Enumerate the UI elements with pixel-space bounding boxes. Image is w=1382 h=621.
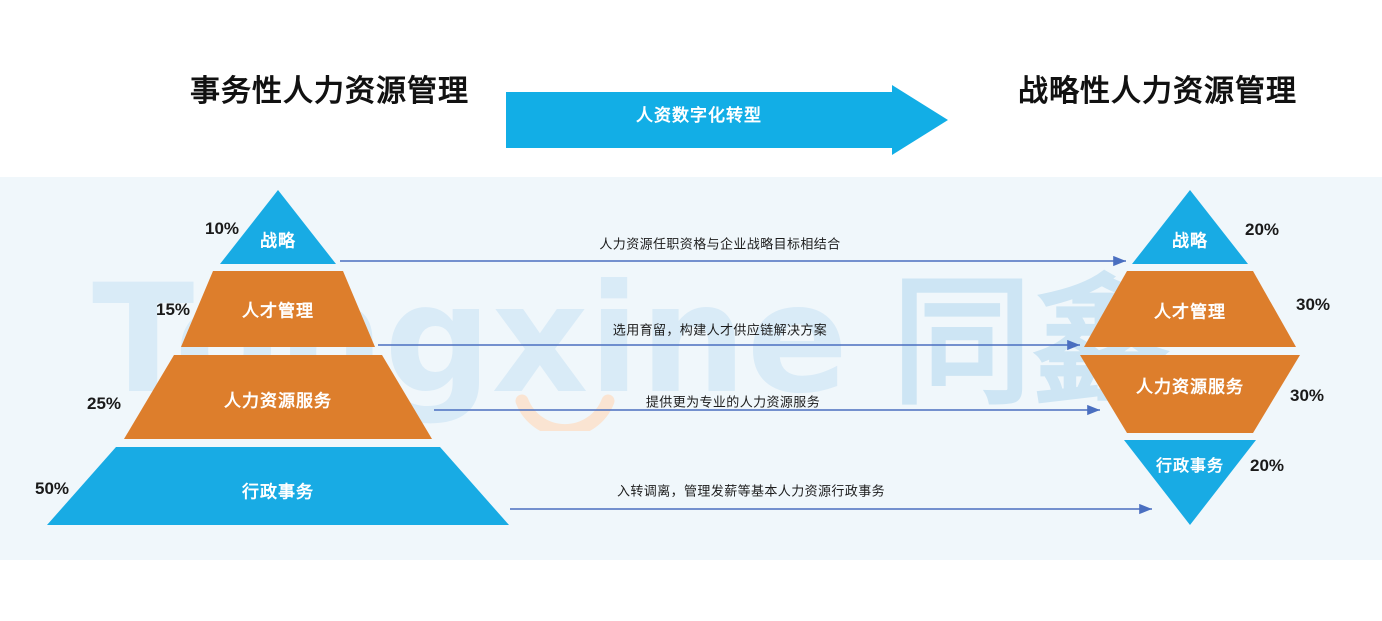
right-percent-hrservice: 30% (1290, 386, 1324, 406)
slide-canvas: 事务性人力资源管理 人资数字化转型 战略性人力资源管理 Tongxine 同鑫 (0, 0, 1382, 621)
connector-label-2: 选用育留，构建人才供应链解决方案 (613, 320, 827, 339)
left-percent-strategy: 10% (205, 219, 239, 239)
right-title: 战略性人力资源管理 (1018, 66, 1297, 110)
diagram-panel: Tongxine 同鑫 (0, 177, 1382, 560)
transformation-arrow: 人资数字化转型 (506, 85, 948, 155)
header-row: 事务性人力资源管理 人资数字化转型 战略性人力资源管理 (0, 0, 1382, 177)
right-percent-talent: 30% (1296, 295, 1330, 315)
right-layer-admin-shape[interactable] (1124, 440, 1256, 525)
left-layer-hrservice-shape[interactable] (124, 355, 432, 439)
left-percent-talent: 15% (156, 300, 190, 320)
right-layer-talent-shape[interactable] (1084, 271, 1296, 347)
arrow-shape (506, 85, 948, 155)
shapes-layer: 战略 人才管理 人力资源服务 行政事务 10% 15% 25% 50% 战略 人… (0, 177, 1382, 560)
left-percent-admin: 50% (35, 479, 69, 499)
connector-label-3: 提供更为专业的人力资源服务 (646, 392, 820, 411)
right-layer-hrservice-shape[interactable] (1080, 355, 1300, 433)
right-layer-strategy-shape[interactable] (1132, 190, 1248, 264)
left-layer-talent-shape[interactable] (181, 271, 375, 347)
left-layer-admin-shape[interactable] (47, 447, 509, 525)
connector-label-1: 人力资源任职资格与企业战略目标相结合 (599, 234, 840, 253)
left-percent-hrservice: 25% (87, 394, 121, 414)
right-percent-admin: 20% (1250, 456, 1284, 476)
connector-label-4: 入转调离，管理发薪等基本人力资源行政事务 (617, 481, 885, 500)
left-title: 事务性人力资源管理 (190, 66, 469, 110)
right-percent-strategy: 20% (1245, 220, 1279, 240)
